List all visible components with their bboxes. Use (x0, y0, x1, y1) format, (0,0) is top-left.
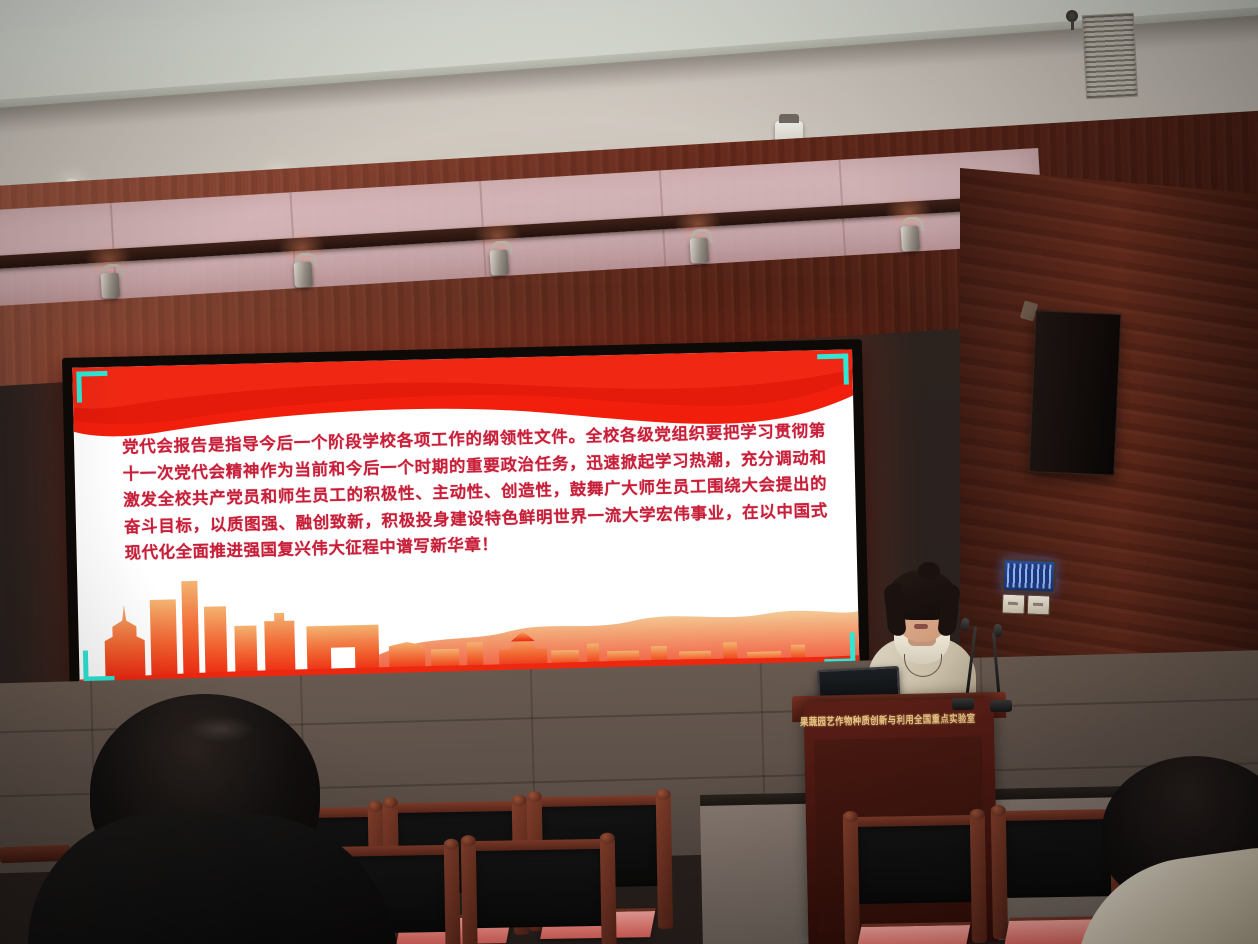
wall-outlet[interactable] (1027, 595, 1051, 616)
audience-member-foreground-left (38, 694, 368, 944)
conference-hall-photo: 党代会报告是指导今后一个阶段学校各项工作的纲领性文件。全校各级党组织要把学习贯彻… (0, 0, 1258, 944)
podium-sign-text: 果蔬园艺作物种质创新与利用全国重点实验室 (800, 711, 976, 730)
track-spotlight (488, 240, 510, 275)
led-display-wall[interactable]: 党代会报告是指导今后一个阶段学校各项工作的纲领性文件。全校各级党组织要把学习贯彻… (62, 339, 870, 696)
corner-marker-top-left-icon (76, 371, 108, 403)
track-spotlight (688, 228, 710, 263)
wall-control-panel[interactable] (1001, 558, 1056, 594)
mic-base (990, 700, 1012, 712)
corner-marker-bottom-left-icon (83, 650, 115, 682)
auditorium-seat[interactable] (855, 825, 975, 944)
presentation-slide: 党代会报告是指导今后一个阶段学校各项工作的纲领性文件。全校各级党组织要把学习贯彻… (72, 349, 859, 685)
slide-body-text: 党代会报告是指导今后一个阶段学校各项工作的纲领性文件。全校各级党组织要把学习贯彻… (122, 418, 829, 567)
hvac-vent (1082, 13, 1138, 100)
track-spotlight (99, 263, 121, 298)
mic-base (952, 698, 974, 710)
podium-sign: 果蔬园艺作物种质创新与利用全国重点实验室 (800, 704, 977, 738)
track-spotlight (292, 252, 314, 287)
smoke-detector-icon (1066, 10, 1078, 22)
auditorium-seat[interactable] (473, 849, 605, 944)
audience-member-foreground-right (1078, 756, 1258, 944)
corner-marker-top-right-icon (817, 353, 849, 385)
wall-outlet[interactable] (1002, 594, 1026, 615)
track-spotlight (899, 216, 921, 251)
mic-head-icon (993, 624, 1002, 638)
wall-loudspeaker (1029, 310, 1122, 476)
corner-marker-bottom-right-icon (824, 632, 856, 664)
